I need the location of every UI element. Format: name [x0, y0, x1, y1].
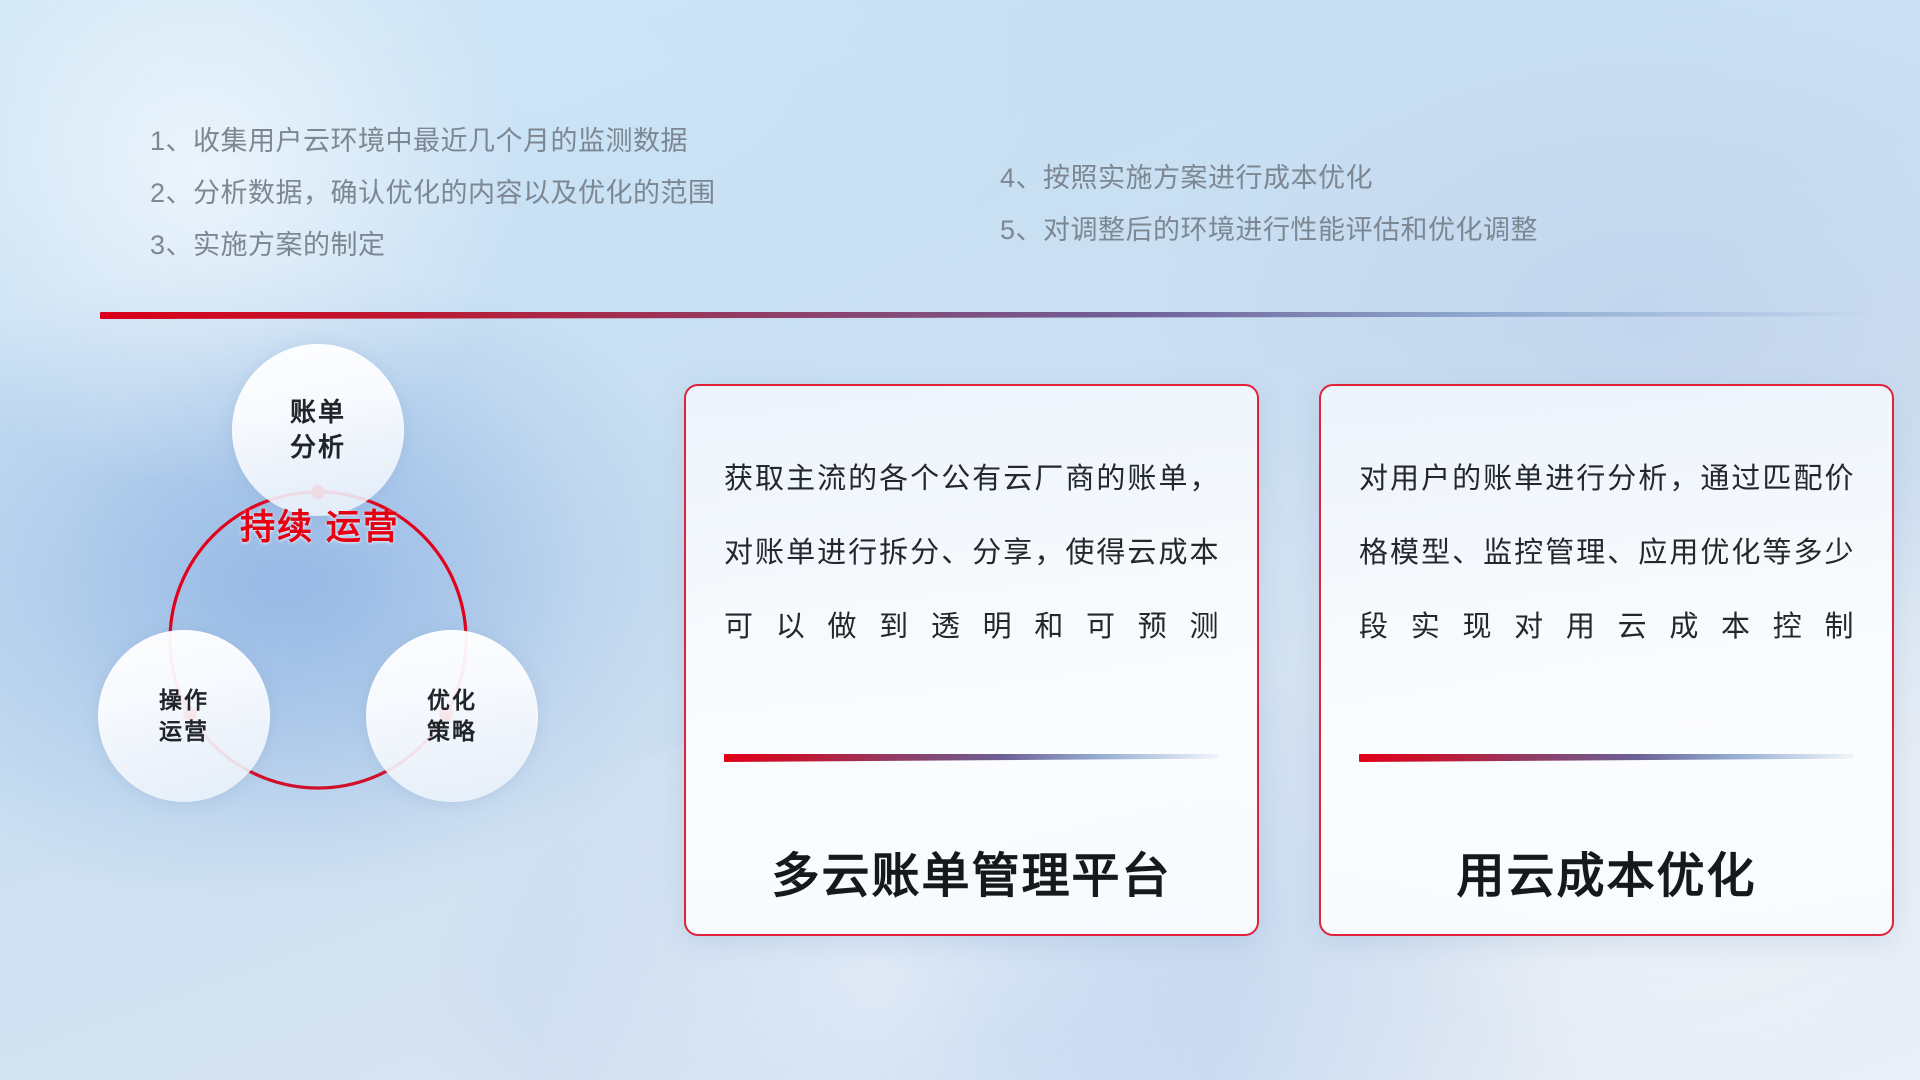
continuous-operation-diagram: 账单 分析 操作 运营 优化 策略 持续 运营 — [90, 340, 650, 940]
process-step-5: 5、对调整后的环境进行性能评估和优化调整 — [1000, 204, 1538, 256]
diagram-node-bill-analysis[interactable]: 账单 分析 — [232, 344, 404, 516]
info-card-multicloud-billing-divider — [724, 754, 1219, 762]
section-divider-rule — [100, 312, 1870, 319]
diagram-node-operations[interactable]: 操作 运营 — [98, 630, 270, 802]
info-card-cloud-cost-optimization-body: 对用户的账单进行分析，通过匹配价格模型、监控管理、应用优化等多少段实现对用云成本… — [1359, 442, 1854, 742]
diagram-center-label: 持续 运营 — [232, 506, 408, 551]
process-steps-left-column: 1、收集用户云环境中最近几个月的监测数据 2、分析数据，确认优化的内容以及优化的… — [150, 115, 716, 271]
diagram-center-label-line2: 运营 — [326, 508, 400, 547]
process-step-3: 3、实施方案的制定 — [150, 219, 716, 271]
info-card-multicloud-billing[interactable]: 获取主流的各个公有云厂商的账单，对账单进行拆分、分享，使得云成本可以做到透明和可… — [684, 384, 1259, 936]
process-steps-right-column: 4、按照实施方案进行成本优化 5、对调整后的环境进行性能评估和优化调整 — [1000, 152, 1538, 256]
diagram-node-operations-line1: 操作 — [159, 685, 209, 716]
diagram-node-optimization-strategy-line2: 策略 — [427, 716, 477, 747]
info-card-cloud-cost-optimization-title: 用云成本优化 — [1359, 836, 1854, 906]
info-card-multicloud-billing-title: 多云账单管理平台 — [724, 836, 1219, 906]
process-step-2: 2、分析数据，确认优化的内容以及优化的范围 — [150, 167, 716, 219]
diagram-node-bill-analysis-line1: 账单 — [290, 395, 346, 430]
diagram-node-optimization-strategy[interactable]: 优化 策略 — [366, 630, 538, 802]
process-steps: 1、收集用户云环境中最近几个月的监测数据 2、分析数据，确认优化的内容以及优化的… — [0, 0, 1920, 300]
diagram-node-optimization-strategy-line1: 优化 — [427, 685, 477, 716]
diagram-center-label-line1: 持续 — [240, 508, 314, 547]
diagram-node-bill-analysis-line2: 分析 — [290, 430, 346, 465]
info-card-cloud-cost-optimization[interactable]: 对用户的账单进行分析，通过匹配价格模型、监控管理、应用优化等多少段实现对用云成本… — [1319, 384, 1894, 936]
slide-canvas: 1、收集用户云环境中最近几个月的监测数据 2、分析数据，确认优化的内容以及优化的… — [0, 0, 1920, 1080]
info-card-group: 获取主流的各个公有云厂商的账单，对账单进行拆分、分享，使得云成本可以做到透明和可… — [684, 384, 1894, 944]
info-card-cloud-cost-optimization-divider — [1359, 754, 1854, 762]
process-step-1: 1、收集用户云环境中最近几个月的监测数据 — [150, 115, 716, 167]
diagram-node-operations-line2: 运营 — [159, 716, 209, 747]
process-step-4: 4、按照实施方案进行成本优化 — [1000, 152, 1538, 204]
info-card-multicloud-billing-body: 获取主流的各个公有云厂商的账单，对账单进行拆分、分享，使得云成本可以做到透明和可… — [724, 442, 1219, 742]
